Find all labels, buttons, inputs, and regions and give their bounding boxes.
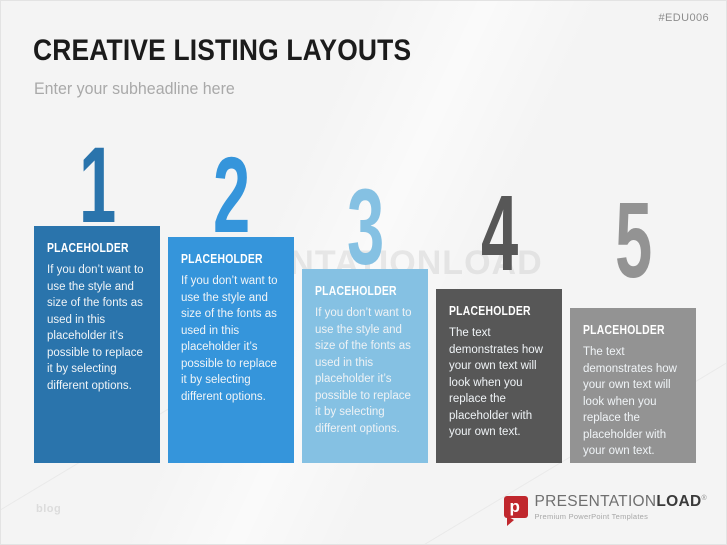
listing-box-5[interactable]: PLACEHOLDER The text demonstrates how yo… — [570, 308, 696, 463]
listing-column-5[interactable]: 5 PLACEHOLDER The text demonstrates how … — [570, 186, 696, 463]
listing-number-2: 2 — [192, 141, 270, 249]
listing-body-2: If you don’t want to use the style and s… — [181, 273, 281, 405]
listing-column-1[interactable]: 1 PLACEHOLDER If you don’t want to use t… — [34, 131, 160, 463]
listing-number-3: 3 — [326, 173, 404, 281]
logo-name: PRESENTATIONLOAD® — [535, 494, 707, 510]
listing-heading-3: PLACEHOLDER — [315, 283, 395, 298]
listing-body-1: If you don’t want to use the style and s… — [47, 262, 147, 394]
listing-box-3[interactable]: PLACEHOLDER If you don’t want to use the… — [302, 269, 428, 463]
logo-tagline: Premium PowerPoint Templates — [535, 513, 707, 521]
presentationload-logo[interactable]: p PRESENTATIONLOAD® Premium PowerPoint T… — [504, 491, 707, 523]
listing-column-3[interactable]: 3 PLACEHOLDER If you don’t want to use t… — [302, 173, 428, 463]
listing-heading-2: PLACEHOLDER — [181, 251, 261, 266]
listing-number-4: 4 — [460, 179, 538, 287]
listing-body-3: If you don’t want to use the style and s… — [315, 305, 415, 437]
listing-columns: 1 PLACEHOLDER If you don’t want to use t… — [1, 1, 727, 545]
logo-name-light: PRESENTATION — [535, 493, 657, 510]
listing-body-4: The text demonstrates how your own text … — [449, 325, 549, 441]
listing-body-5: The text demonstrates how your own text … — [583, 344, 683, 460]
listing-box-2[interactable]: PLACEHOLDER If you don’t want to use the… — [168, 237, 294, 463]
listing-box-1[interactable]: PLACEHOLDER If you don’t want to use the… — [34, 226, 160, 463]
logo-registered-mark: ® — [702, 495, 707, 502]
listing-column-2[interactable]: 2 PLACEHOLDER If you don’t want to use t… — [168, 141, 294, 463]
listing-heading-1: PLACEHOLDER — [47, 240, 127, 255]
listing-heading-4: PLACEHOLDER — [449, 303, 529, 318]
blog-label[interactable]: blog — [36, 503, 61, 515]
listing-number-1: 1 — [58, 131, 136, 239]
listing-number-5: 5 — [594, 186, 672, 294]
logo-mark-letter: p — [510, 497, 520, 517]
listing-box-4[interactable]: PLACEHOLDER The text demonstrates how yo… — [436, 289, 562, 463]
listing-heading-5: PLACEHOLDER — [583, 322, 663, 337]
logo-name-bold: LOAD — [656, 493, 701, 510]
logo-text-block: PRESENTATIONLOAD® Premium PowerPoint Tem… — [535, 494, 707, 520]
slide-canvas: #EDU006 CREATIVE LISTING LAYOUTS Enter y… — [0, 0, 727, 545]
speech-bubble-icon: p — [504, 496, 528, 518]
listing-column-4[interactable]: 4 PLACEHOLDER The text demonstrates how … — [436, 179, 562, 463]
